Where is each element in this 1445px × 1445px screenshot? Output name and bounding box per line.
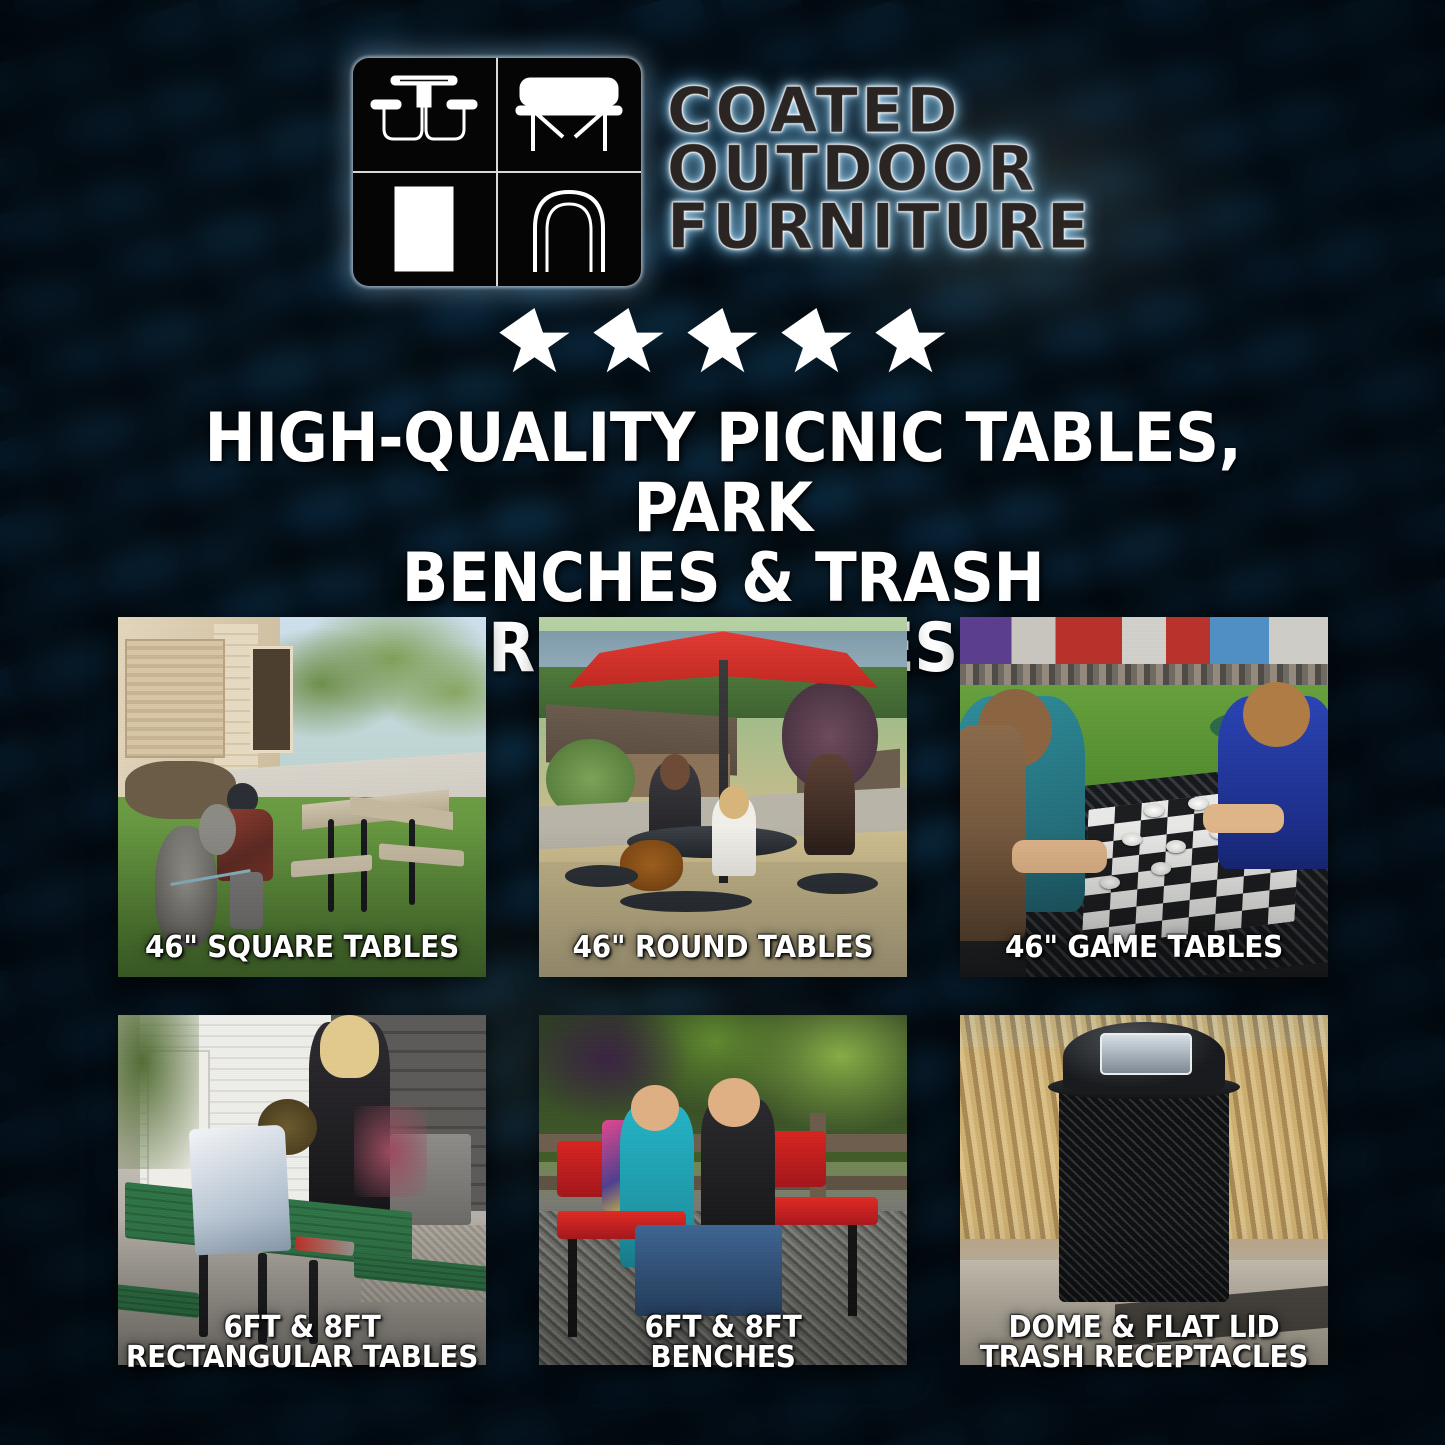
trash-receptacle-icon	[353, 172, 497, 286]
product-photo-round-tables	[539, 617, 907, 977]
bike-rack-arch-icon	[497, 172, 641, 286]
product-tile-rectangular-tables[interactable]: 6FT & 8FT RECTANGULAR TABLES	[118, 1015, 486, 1365]
logo-icon-grid	[353, 58, 641, 286]
product-tile-game-tables[interactable]: 46" GAME TABLES	[960, 617, 1328, 977]
star-icon-1	[499, 308, 571, 378]
product-caption-trash-receptacles: DOME & FLAT LID TRASH RECEPTACLES	[965, 1313, 1322, 1373]
product-tile-trash-receptacles[interactable]: DOME & FLAT LID TRASH RECEPTACLES	[960, 1015, 1328, 1365]
product-photo-game-tables	[960, 617, 1328, 977]
product-caption-benches: 6FT & 8FT BENCHES	[544, 1313, 901, 1373]
product-caption-rectangular-tables: 6FT & 8FT RECTANGULAR TABLES	[123, 1313, 480, 1373]
product-caption-game-tables: 46" GAME TABLES	[965, 933, 1322, 963]
product-photo-square-tables	[118, 617, 486, 977]
product-grid: 46" SQUARE TABLES	[118, 617, 1327, 1365]
promo-poster: COATED OUTDOOR FURNITURE HIGH-QUALITY PI…	[0, 0, 1445, 1445]
star-icon-3	[687, 308, 759, 378]
product-tile-benches[interactable]: 6FT & 8FT BENCHES	[539, 1015, 907, 1365]
star-icon-4	[781, 308, 853, 378]
star-rating	[0, 308, 1445, 378]
picnic-table-icon	[353, 58, 497, 172]
star-icon-5	[875, 308, 947, 378]
star-icon-2	[593, 308, 665, 378]
headline-line-1: HIGH-QUALITY PICNIC TABLES, PARK	[165, 404, 1281, 544]
product-tile-round-tables[interactable]: 46" ROUND TABLES	[539, 617, 907, 977]
brand-logo: COATED OUTDOOR FURNITURE	[0, 0, 1445, 286]
product-caption-square-tables: 46" SQUARE TABLES	[123, 933, 480, 963]
park-bench-icon	[497, 58, 641, 172]
product-caption-round-tables: 46" ROUND TABLES	[544, 933, 901, 963]
logo-line-furniture: FURNITURE	[667, 198, 1092, 256]
product-tile-square-tables[interactable]: 46" SQUARE TABLES	[118, 617, 486, 977]
logo-wordmark: COATED OUTDOOR FURNITURE	[667, 82, 1092, 263]
